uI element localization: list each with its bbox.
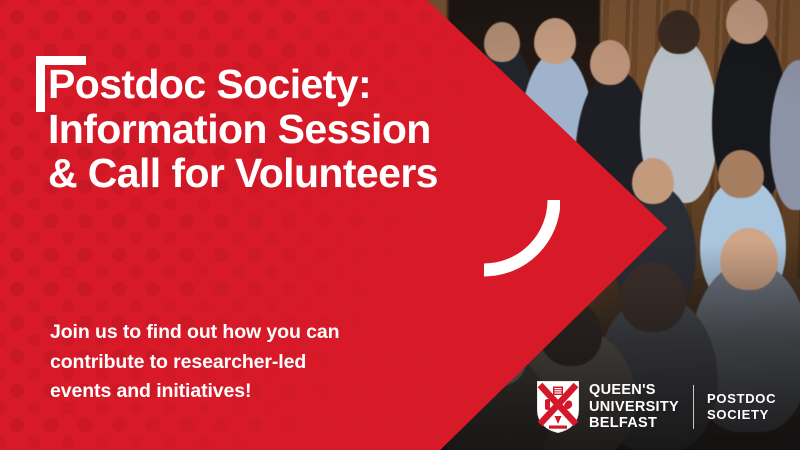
logo-lockup: QUEEN'S UNIVERSITY BELFAST POSTDOC SOCIE… (536, 377, 776, 437)
logo-divider (693, 385, 694, 429)
university-name: QUEEN'S UNIVERSITY BELFAST (589, 382, 679, 432)
subtitle-text: Join us to find out how you can contribu… (50, 318, 450, 407)
event-poster: Postdoc Society: Information Session & C… (0, 0, 800, 450)
page-title: Postdoc Society: Information Session & C… (48, 62, 568, 196)
sub-brand-name: POSTDOC SOCIETY (707, 391, 776, 423)
queens-university-belfast-crest-icon (536, 380, 580, 434)
